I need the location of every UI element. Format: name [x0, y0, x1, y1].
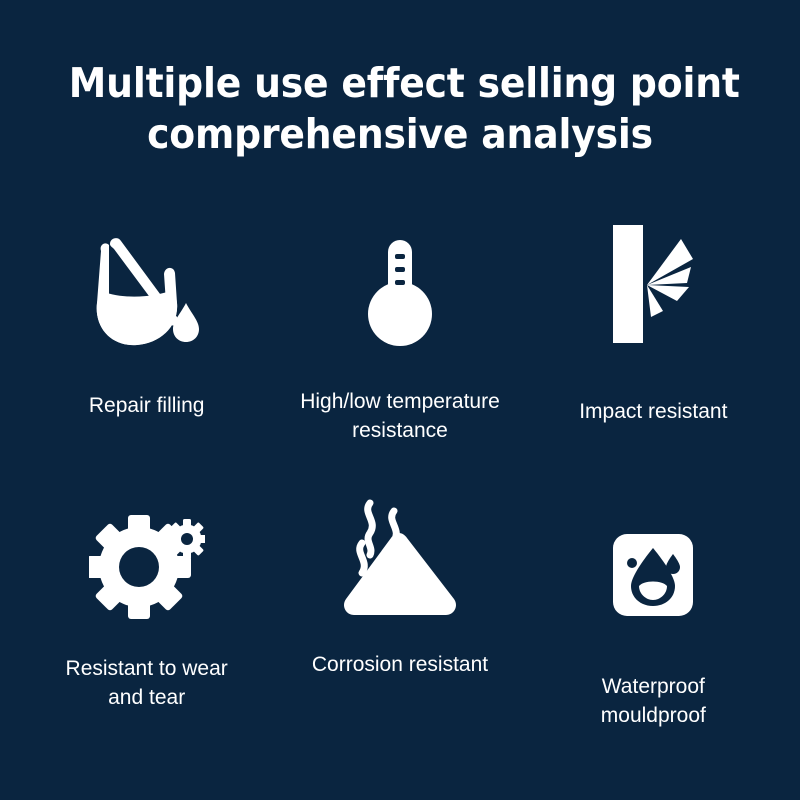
- gears-icon: [89, 490, 205, 640]
- feature-item-impact-resistant: Impact resistant: [527, 205, 780, 478]
- feature-label-wear-and-tear: Resistant to wearand tear: [66, 654, 228, 712]
- feature-item-corrosion-resistant: Corrosion resistant: [273, 478, 526, 751]
- corrosive-fumes-triangle-icon: [336, 478, 464, 628]
- feature-label-wear-line-1: Resistant to wear: [66, 657, 228, 680]
- feature-item-temperature-resistance: High/low temperatureresistance: [273, 205, 526, 478]
- feature-poster: Multiple use effect selling point compre…: [0, 0, 800, 800]
- feature-label-waterproof-line-2: mouldproof: [601, 704, 706, 727]
- impact-shatter-icon: [607, 209, 699, 359]
- feature-label-wear-line-2: and tear: [108, 686, 185, 709]
- feature-item-repair-filling: Repair filling: [20, 205, 273, 478]
- thermometer-icon: [362, 219, 438, 369]
- water-droplet-badge-icon: [611, 500, 695, 650]
- feature-grid: Repair filling High/low temperaturer: [20, 205, 780, 750]
- feature-item-wear-and-tear: Resistant to wearand tear: [20, 478, 273, 751]
- paint-bucket-pouring-icon: [91, 217, 203, 367]
- page-title-line-1: Multiple use effect selling point: [69, 58, 731, 109]
- page-title-line-2: comprehensive analysis: [69, 109, 731, 160]
- feature-label-impact-resistant: Impact resistant: [579, 397, 727, 426]
- feature-label-waterproof-line-1: Waterproof: [602, 675, 705, 698]
- feature-label-temperature-line-1: High/low temperature: [300, 390, 500, 413]
- feature-label-repair-filling: Repair filling: [89, 391, 205, 420]
- feature-label-corrosion-resistant: Corrosion resistant: [312, 650, 488, 679]
- feature-item-waterproof-mouldproof: Waterproofmouldproof: [527, 478, 780, 751]
- feature-label-temperature-resistance: High/low temperatureresistance: [300, 387, 500, 445]
- feature-label-temperature-line-2: resistance: [352, 419, 448, 442]
- feature-label-waterproof-mouldproof: Waterproofmouldproof: [601, 672, 706, 730]
- page-title: Multiple use effect selling point compre…: [0, 58, 800, 160]
